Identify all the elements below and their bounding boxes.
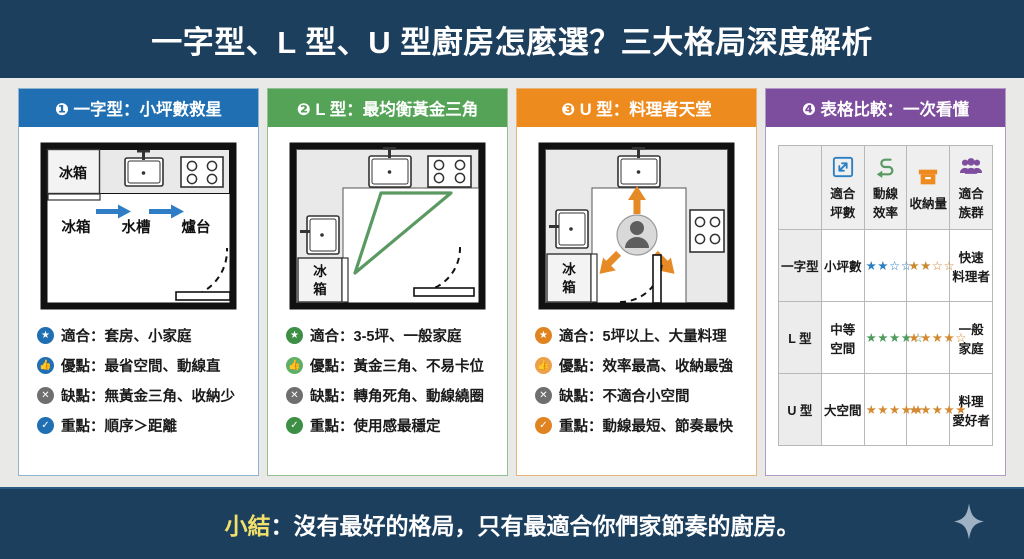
panel-3-heading: ❸ U 型：料理者天堂	[517, 89, 756, 127]
panel-l-kitchen[interactable]: ❷ L 型：最均衡黃金三角	[267, 88, 508, 476]
bullet-item: ✕ 缺點：無黃金三角、收納少	[37, 385, 246, 406]
bullet-item: 👍 優點：黃金三角、不易卡位	[286, 355, 495, 376]
bullet-text: 優點：最省空間、動線直	[61, 355, 221, 376]
bullet-item: ★ 適合：3-5坪、一般家庭	[286, 325, 495, 346]
size-line1: 中等	[823, 319, 863, 338]
plan-fridge-label: 冰箱	[59, 165, 87, 181]
sparkle-icon	[952, 502, 986, 547]
cell-audience: 料理 愛好者	[950, 374, 993, 446]
footer-body: ：沒有最好的格局，只有最適合你們家節奏的廚房。	[271, 513, 800, 539]
bullet-text: 優點：效率最高、收納最強	[559, 355, 733, 376]
audience-line2: 料理者	[951, 266, 991, 285]
star-icon: ★	[535, 327, 552, 344]
plan-fridge-label-line2: 箱	[562, 279, 576, 295]
x-mark-icon: ✕	[535, 387, 552, 404]
flow-arrow-icon	[866, 154, 906, 180]
bullets-u-shape: ★ 適合：5坪以上、大量料理 👍 優點：效率最高、收納最強 ✕ 缺點：不適合小空…	[525, 319, 748, 469]
cell-storage-stars: ★★☆☆	[907, 230, 950, 302]
check-icon: ✓	[286, 417, 303, 434]
floorplan-linear: 冰箱	[27, 137, 250, 319]
plan-flow-label-3: 爐台	[182, 218, 211, 236]
table-header-row: 適合 坪數 動線 效率	[779, 146, 993, 230]
bullet-text: 重點：順序＞距離	[61, 415, 177, 436]
panel-2-heading: ❷ L 型：最均衡黃金三角	[268, 89, 507, 127]
plan-fridge-label-line1: 冰	[562, 261, 576, 277]
cell-size: 中等 空間	[821, 302, 864, 374]
panel-1-heading: ❶ 一字型：小坪數救星	[19, 89, 258, 127]
column-audience: 適合 族群	[950, 146, 993, 230]
plan-fridge-label-line2: 箱	[313, 281, 327, 297]
footer-highlight: 小結	[225, 513, 271, 539]
column-label-line1: 收納量	[908, 193, 948, 212]
thumbs-up-icon: 👍	[535, 357, 552, 374]
star-icon: ★	[37, 327, 54, 344]
expand-arrows-icon	[823, 154, 863, 180]
page-title: 一字型、L 型、U 型廚房怎麼選？三大格局深度解析	[151, 17, 873, 62]
header-bar: 一字型、L 型、U 型廚房怎麼選？三大格局深度解析	[0, 0, 1024, 78]
bullet-item: 👍 優點：最省空間、動線直	[37, 355, 246, 376]
plan-flow-label-1: 冰箱	[62, 218, 91, 236]
column-label-line2: 坪數	[823, 202, 863, 221]
star-icon: ★	[286, 327, 303, 344]
table-row: U 型 大空間 ★★★★★ ★★★★★ 料理 愛好者	[779, 374, 993, 446]
table-row: L 型 中等 空間 ★★★★☆ ★★★★☆ 一般 家庭	[779, 302, 993, 374]
row-label-l-shape: L 型	[779, 302, 822, 374]
bullet-text: 缺點：不適合小空間	[559, 385, 690, 406]
footer-bar: 小結：沒有最好的格局，只有最適合你們家節奏的廚房。	[0, 487, 1024, 559]
column-storage: 收納量	[907, 146, 950, 230]
bullet-item: ✕ 缺點：轉角死角、動線繞圈	[286, 385, 495, 406]
column-label-line2: 族群	[951, 202, 991, 221]
check-icon: ✓	[535, 417, 552, 434]
bullets-l-shape: ★ 適合：3-5坪、一般家庭 👍 優點：黃金三角、不易卡位 ✕ 缺點：轉角死角、…	[276, 319, 499, 469]
column-label-line1: 適合	[823, 183, 863, 202]
cell-storage-stars: ★★★★☆	[907, 302, 950, 374]
table-row: 一字型 小坪數 ★★☆☆ ★★☆☆ 快速 料理者	[779, 230, 993, 302]
row-label-linear: 一字型	[779, 230, 822, 302]
column-label-line1: 動線	[866, 183, 906, 202]
panel-4-heading: ❹ 表格比較：一次看懂	[766, 89, 1005, 127]
cell-audience: 快速 料理者	[950, 230, 993, 302]
row-label-u-shape: U 型	[779, 374, 822, 446]
bullet-item: 👍 優點：效率最高、收納最強	[535, 355, 744, 376]
bullet-item: ✓ 重點：順序＞距離	[37, 415, 246, 436]
bullet-text: 缺點：無黃金三角、收納少	[61, 385, 235, 406]
cell-flow-stars: ★★☆☆	[864, 230, 907, 302]
cell-flow-stars: ★★★★★	[864, 374, 907, 446]
floorplan-u-shape: 冰 箱	[525, 137, 748, 319]
x-mark-icon: ✕	[286, 387, 303, 404]
thumbs-up-icon: 👍	[286, 357, 303, 374]
column-fit-size: 適合 坪數	[821, 146, 864, 230]
bullet-text: 適合：5坪以上、大量料理	[559, 325, 727, 346]
cell-flow-stars: ★★★★☆	[864, 302, 907, 374]
x-mark-icon: ✕	[37, 387, 54, 404]
box-icon	[908, 164, 948, 190]
bullet-item: ✓ 重點：動線最短、節奏最快	[535, 415, 744, 436]
people-icon	[951, 154, 991, 180]
cell-storage-stars: ★★★★★	[907, 374, 950, 446]
panel-comparison-table[interactable]: ❹ 表格比較：一次看懂 適合 坪數	[765, 88, 1006, 476]
check-icon: ✓	[37, 417, 54, 434]
column-label-line2: 效率	[866, 202, 906, 221]
bullets-linear: ★ 適合：套房、小家庭 👍 優點：最省空間、動線直 ✕ 缺點：無黃金三角、收納少…	[27, 319, 250, 469]
bullet-item: ✓ 重點：使用感最穩定	[286, 415, 495, 436]
size-line2: 空間	[823, 338, 863, 357]
audience-line2: 愛好者	[951, 410, 991, 429]
comparison-table: 適合 坪數 動線 效率	[778, 145, 993, 446]
thumbs-up-icon: 👍	[37, 357, 54, 374]
panel-row: ❶ 一字型：小坪數救星 冰箱	[0, 88, 1024, 476]
panel-linear-kitchen[interactable]: ❶ 一字型：小坪數救星 冰箱	[18, 88, 259, 476]
bullet-text: 重點：動線最短、節奏最快	[559, 415, 733, 436]
plan-fridge-label-line1: 冰	[313, 263, 327, 279]
plan-flow-label-2: 水槽	[122, 218, 151, 236]
bullet-item: ★ 適合：5坪以上、大量料理	[535, 325, 744, 346]
bullet-text: 缺點：轉角死角、動線繞圈	[310, 385, 484, 406]
corner-cell	[779, 146, 822, 230]
panel-u-kitchen[interactable]: ❸ U 型：料理者天堂	[516, 88, 757, 476]
comparison-table-wrap: 適合 坪數 動線 效率	[774, 137, 997, 454]
column-flow-efficiency: 動線 效率	[864, 146, 907, 230]
bullet-text: 適合：3-5坪、一般家庭	[310, 325, 461, 346]
bullet-text: 重點：使用感最穩定	[310, 415, 441, 436]
cell-size: 小坪數	[821, 230, 864, 302]
audience-line1: 快速	[951, 247, 991, 266]
column-label-line1: 適合	[951, 183, 991, 202]
cell-size: 大空間	[821, 374, 864, 446]
floorplan-l-shape: 冰 箱	[276, 137, 499, 319]
bullet-text: 優點：黃金三角、不易卡位	[310, 355, 484, 376]
bullet-text: 適合：套房、小家庭	[61, 325, 192, 346]
footer-text: 小結：沒有最好的格局，只有最適合你們家節奏的廚房。	[225, 507, 800, 541]
bullet-item: ✕ 缺點：不適合小空間	[535, 385, 744, 406]
bullet-item: ★ 適合：套房、小家庭	[37, 325, 246, 346]
